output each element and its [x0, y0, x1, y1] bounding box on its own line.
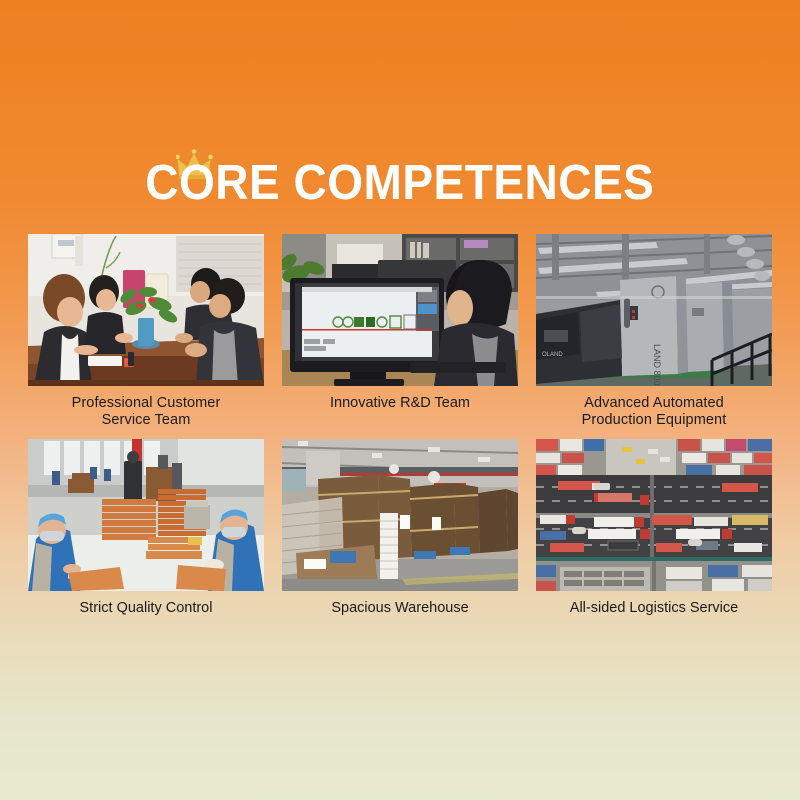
competence-card[interactable]: Innovative R&D Team	[282, 234, 518, 431]
caption-line-1: All-sided Logistics Service	[536, 600, 772, 617]
caption-line-1: Advanced Automated	[536, 395, 772, 412]
card-caption: Professional Customer Service Team	[28, 395, 264, 431]
competence-card[interactable]: LAND 800 OLAND	[536, 234, 772, 431]
competence-card[interactable]: Strict Quality Control	[28, 439, 264, 636]
competence-card[interactable]: All-sided Logistics Service	[536, 439, 772, 636]
caption-line-1: Innovative R&D Team	[282, 395, 518, 412]
caption-line-1: Spacious Warehouse	[282, 600, 518, 617]
card-caption: Advanced Automated Production Equipment	[536, 395, 772, 431]
core-competences-poster: CORE COMPETENCES	[0, 0, 800, 800]
page-title-block: CORE COMPETENCES	[0, 155, 800, 211]
card-caption: Strict Quality Control	[28, 600, 264, 636]
designer-workstation-photo	[282, 234, 518, 386]
caption-line-1: Strict Quality Control	[28, 600, 264, 617]
competence-card[interactable]: Professional Customer Service Team	[28, 234, 264, 431]
caption-line-1: Professional Customer	[28, 395, 264, 412]
card-caption: All-sided Logistics Service	[536, 600, 772, 636]
svg-text:OLAND: OLAND	[542, 352, 563, 358]
quality-inspection-photo	[28, 439, 264, 591]
card-caption: Innovative R&D Team	[282, 395, 518, 431]
logistics-aerial-photo	[536, 439, 772, 591]
competence-grid: Professional Customer Service Team	[28, 234, 772, 636]
meeting-room-photo	[28, 234, 264, 386]
card-caption: Spacious Warehouse	[282, 600, 518, 636]
competence-card[interactable]: Spacious Warehouse	[282, 439, 518, 636]
page-title: CORE COMPETENCES	[145, 155, 654, 211]
printing-press-photo: LAND 800 OLAND	[536, 234, 772, 386]
warehouse-photo	[282, 439, 518, 591]
caption-line-2: Service Team	[28, 412, 264, 429]
svg-text:LAND 800: LAND 800	[652, 344, 662, 386]
caption-line-2: Production Equipment	[536, 412, 772, 429]
